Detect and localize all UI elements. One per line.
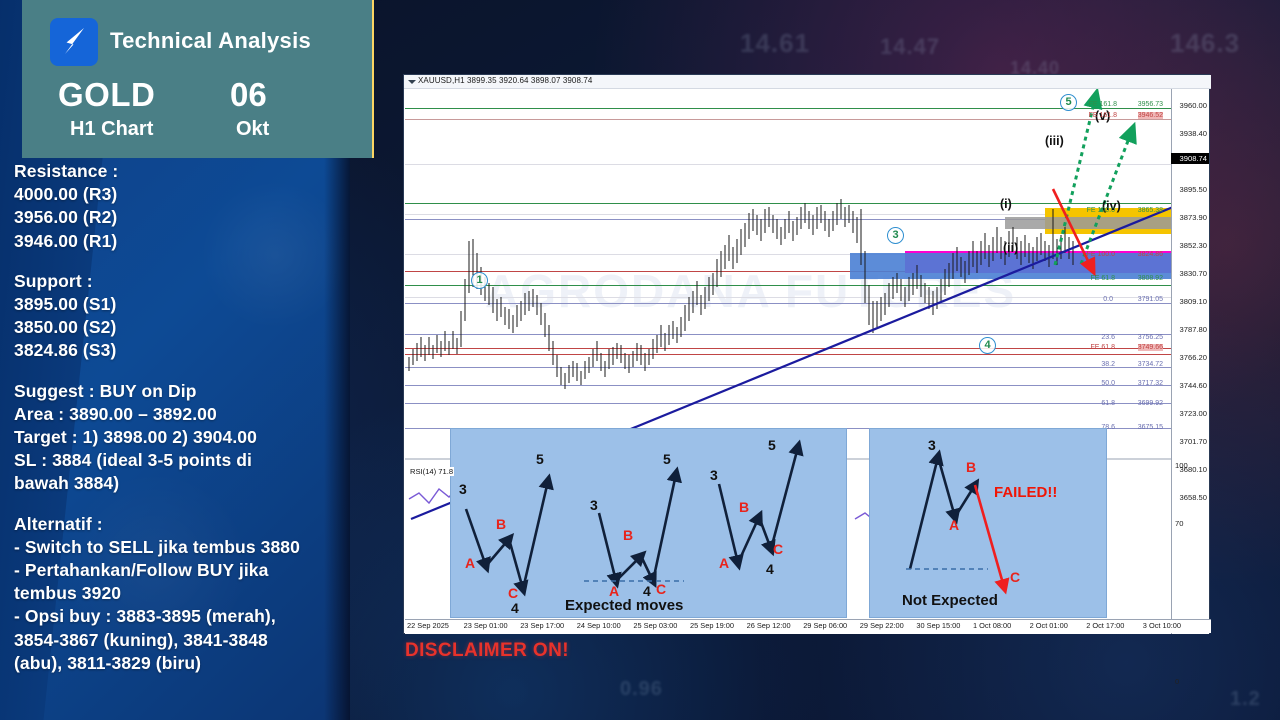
analysis-spacer <box>14 363 350 380</box>
analysis-line: - Pertahankan/Follow BUY jika <box>14 559 350 582</box>
ew-label-3: 3 <box>710 467 718 483</box>
price-tick: 3723.00 <box>1180 409 1207 418</box>
time-tick: 3 Oct 10:00 <box>1143 621 1181 630</box>
time-tick: 25 Sep 03:00 <box>633 621 677 630</box>
symbol-name: GOLD <box>58 76 155 114</box>
ew-label-b: B <box>623 527 633 543</box>
chart-symbol-label: XAUUSD,H1 3899.35 3920.64 3898.07 3908.7… <box>418 76 592 85</box>
date-day: 06 <box>230 76 267 114</box>
chevron-down-icon[interactable] <box>408 80 416 84</box>
analysis-line: 3850.00 (S2) <box>14 316 350 339</box>
bg-number: 0.96 <box>620 678 663 701</box>
time-tick: 2 Oct 17:00 <box>1086 621 1124 630</box>
analysis-line: bawah 3884) <box>14 472 350 495</box>
ew-label-3: 3 <box>928 437 936 453</box>
ew-label-c: C <box>656 581 666 597</box>
ew-label-3: 3 <box>590 497 598 513</box>
ew-label-5: 5 <box>536 451 544 467</box>
bg-number: 14.61 <box>740 28 810 59</box>
analysis-line: Alternatif : <box>14 513 350 536</box>
price-tick: 3766.20 <box>1180 353 1207 362</box>
time-tick: 24 Sep 10:00 <box>577 621 621 630</box>
analysis-line: 3956.00 (R2) <box>14 206 350 229</box>
analysis-line: Area : 3890.00 – 3892.00 <box>14 403 350 426</box>
ew-label-a: A <box>465 555 475 571</box>
analysis-line: 3854-3867 (kuning), 3841-3848 <box>14 629 350 652</box>
elliott-not-expected-panel: 3 A B C FAILED!! Not Expected <box>869 428 1107 618</box>
analysis-line: 3895.00 (S1) <box>14 293 350 316</box>
chart-toolbar[interactable]: XAUUSD,H1 3899.35 3920.64 3898.07 3908.7… <box>404 75 1211 89</box>
arrow-logo-icon <box>50 18 98 66</box>
price-axis[interactable]: 3960.003938.403916.803895.503873.903852.… <box>1171 89 1209 634</box>
analysis-line: SL : 3884 (ideal 3-5 points di <box>14 449 350 472</box>
price-tick: 3830.70 <box>1180 269 1207 278</box>
analysis-line: - Switch to SELL jika tembus 3880 <box>14 536 350 559</box>
elliott-not-expected-diagram <box>870 429 1108 619</box>
price-tick: 3658.50 <box>1180 493 1207 502</box>
rsi-label: RSI(14) 71.8 <box>409 467 454 476</box>
ew-label-c: C <box>1010 569 1020 585</box>
analysis-spacer <box>14 253 350 270</box>
time-tick: 29 Sep 06:00 <box>803 621 847 630</box>
rsi-tick: 70 <box>1175 519 1183 528</box>
rsi-tick: 100 <box>1175 461 1188 470</box>
bg-number: 1.2 <box>1230 688 1261 711</box>
price-tick: 3744.60 <box>1180 381 1207 390</box>
bg-number: 146.3 <box>1170 28 1240 59</box>
current-price-tag: 3908.74 <box>1171 153 1209 164</box>
ew-label-c: C <box>773 541 783 557</box>
elliott-expected-panel: 3 A B C 4 5 3 A B C 4 5 3 A B C 4 5 Expe… <box>450 428 847 618</box>
time-tick: 26 Sep 12:00 <box>747 621 791 630</box>
time-tick: 2 Oct 01:00 <box>1030 621 1068 630</box>
ew-label-b: B <box>739 499 749 515</box>
price-tick: 3938.40 <box>1180 129 1207 138</box>
bg-number: 14.47 <box>880 34 940 60</box>
ew-label-b: B <box>496 516 506 532</box>
failed-annotation: FAILED!! <box>994 484 1057 501</box>
analysis-line: 3824.86 (S3) <box>14 339 350 362</box>
time-axis[interactable]: 22 Sep 202523 Sep 01:0023 Sep 17:0024 Se… <box>405 619 1211 633</box>
ew-label-c: C <box>508 585 518 601</box>
analysis-line: Target : 1) 3898.00 2) 3904.00 <box>14 426 350 449</box>
analysis-line: 4000.00 (R3) <box>14 183 350 206</box>
analysis-line: tembus 3920 <box>14 582 350 605</box>
ew-label-b: B <box>966 459 976 475</box>
ew-label-5: 5 <box>663 451 671 467</box>
time-tick: 29 Sep 22:00 <box>860 621 904 630</box>
price-tick: 3787.80 <box>1180 325 1207 334</box>
analysis-spacer <box>14 496 350 513</box>
analysis-text-block: Resistance :4000.00 (R3)3956.00 (R2)3946… <box>14 160 350 675</box>
analysis-line: - Opsi buy : 3883-3895 (merah), <box>14 605 350 628</box>
analysis-line: Support : <box>14 270 350 293</box>
analysis-line: 3946.00 (R1) <box>14 230 350 253</box>
analysis-line: (abu), 3811-3829 (biru) <box>14 652 350 675</box>
ew-label-3: 3 <box>459 481 467 497</box>
price-tick: 3895.50 <box>1180 185 1207 194</box>
time-tick: 22 Sep 2025 <box>407 621 449 630</box>
rsi-tick: 0 <box>1175 677 1179 686</box>
time-tick: 30 Sep 15:00 <box>916 621 960 630</box>
ew-label-5: 5 <box>768 437 776 453</box>
expected-moves-caption: Expected moves <box>565 597 683 614</box>
ew-label-a: A <box>949 517 959 533</box>
price-tick: 3873.90 <box>1180 213 1207 222</box>
ew-label-4: 4 <box>766 561 774 577</box>
price-tick: 3809.10 <box>1180 297 1207 306</box>
price-tick: 3852.30 <box>1180 241 1207 250</box>
time-tick: 1 Oct 08:00 <box>973 621 1011 630</box>
ew-label-a: A <box>719 555 729 571</box>
price-tick: 3960.00 <box>1180 101 1207 110</box>
time-tick: 23 Sep 01:00 <box>464 621 508 630</box>
analysis-line: Suggest : BUY on Dip <box>14 380 350 403</box>
time-tick: 23 Sep 17:00 <box>520 621 564 630</box>
time-tick: 25 Sep 19:00 <box>690 621 734 630</box>
page-title: Technical Analysis <box>110 28 311 54</box>
disclaimer-text: DISCLAIMER ON! <box>405 640 569 662</box>
ew-label-4: 4 <box>511 600 519 616</box>
date-month: Okt <box>236 118 269 141</box>
analysis-line: Resistance : <box>14 160 350 183</box>
not-expected-caption: Not Expected <box>902 592 998 609</box>
timeframe-label: H1 Chart <box>70 118 153 141</box>
price-tick: 3701.70 <box>1180 437 1207 446</box>
